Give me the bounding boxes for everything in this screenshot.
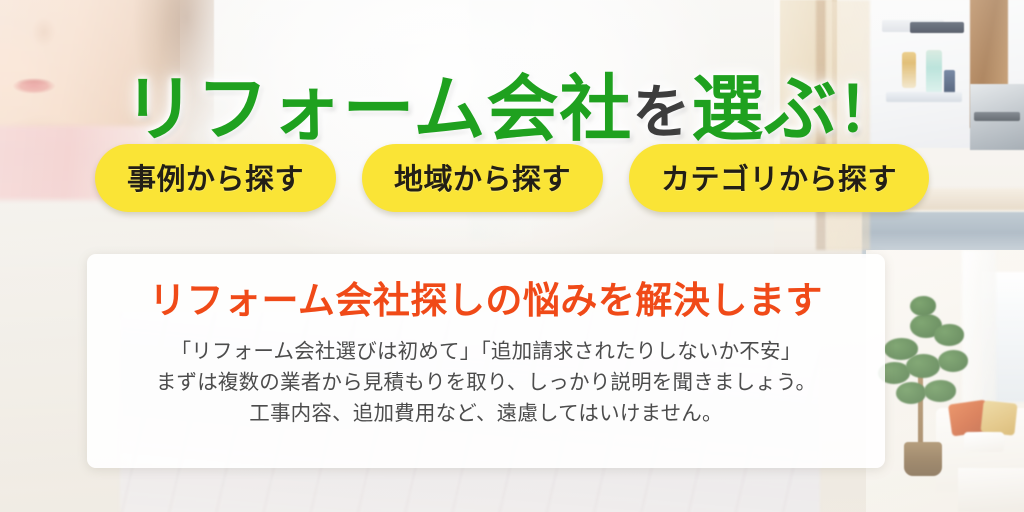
- headline-dark-particle: を: [632, 80, 691, 145]
- headline-green-part-2: 選ぶ: [691, 70, 837, 150]
- info-card-body: 「リフォーム会社選びは初めて」「追加請求されたりしないか不安」 まずは複数の業者…: [156, 336, 816, 429]
- info-card-line-2: まずは複数の業者から見積もりを取り、しっかり説明を聞きましょう。: [156, 367, 816, 398]
- headline-exclamation: ！: [837, 76, 900, 145]
- search-button-row: 事例から探す 地域から探す カテゴリから探す: [0, 144, 1024, 212]
- search-by-category-button[interactable]: カテゴリから探す: [629, 144, 929, 212]
- info-card: リフォーム会社探しの悩みを解決します 「リフォーム会社選びは初めて」「追加請求さ…: [87, 254, 885, 468]
- info-card-title: リフォーム会社探しの悩みを解決します: [149, 281, 823, 322]
- search-by-area-button[interactable]: 地域から探す: [362, 144, 603, 212]
- info-card-line-1: 「リフォーム会社選びは初めて」「追加請求されたりしないか不安」: [156, 336, 816, 367]
- info-card-line-3: 工事内容、追加費用など、遠慮してはいけません。: [156, 398, 816, 429]
- headline-green-part-1: リフォーム会社: [124, 70, 633, 150]
- banner-content: リフォーム会社を選ぶ！ 事例から探す 地域から探す カテゴリから探す リフォーム…: [0, 0, 1024, 512]
- hero-banner: リフォーム会社を選ぶ！ 事例から探す 地域から探す カテゴリから探す リフォーム…: [0, 0, 1024, 512]
- search-by-case-button[interactable]: 事例から探す: [95, 144, 336, 212]
- page-title: リフォーム会社を選ぶ！: [0, 74, 1024, 146]
